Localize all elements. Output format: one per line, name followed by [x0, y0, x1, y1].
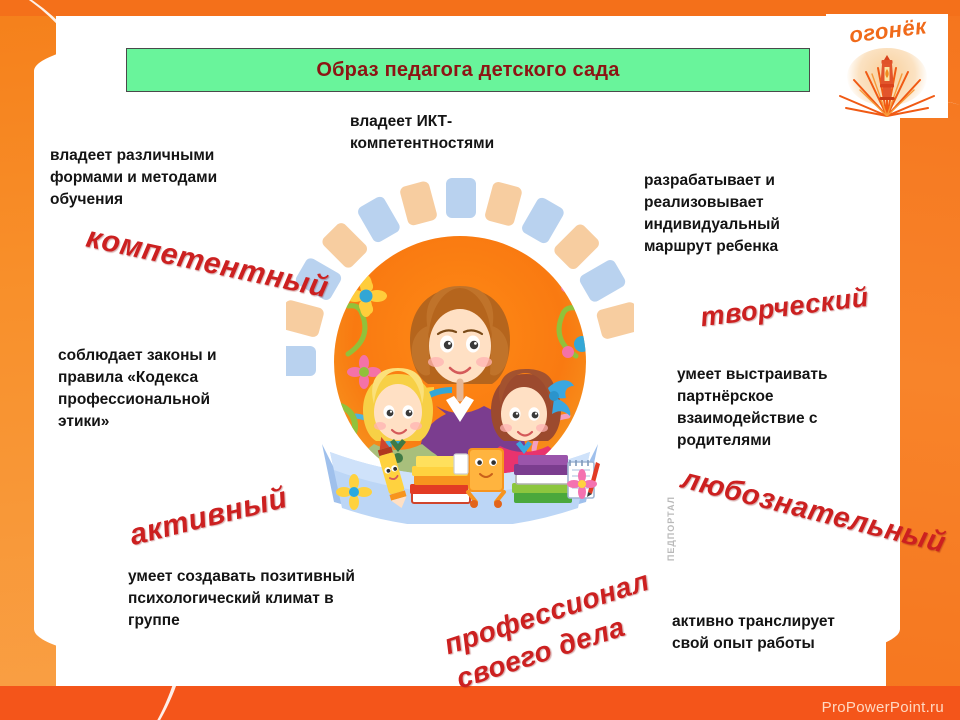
caption-forms-methods: владеет различными формами и методами об…	[50, 145, 310, 211]
caption-line: обучения	[50, 189, 310, 211]
background-top-strip	[0, 0, 960, 16]
books-stack-right	[512, 455, 572, 503]
caption-line: соблюдает законы и	[58, 345, 308, 367]
caption-ikt: владеет ИКТ- компетентностями	[350, 111, 580, 155]
caption-ethics-code: соблюдает законы и правила «Кодекса проф…	[58, 345, 308, 433]
caption-line: владеет различными	[50, 145, 310, 167]
logo: огонёк	[826, 14, 948, 118]
caption-line: группе	[128, 610, 438, 632]
caption-individual-route: разрабатывает и реализовывает индивидуал…	[644, 170, 874, 258]
lantern-icon	[878, 54, 896, 100]
slide-canvas: Образ педагога детского сада	[0, 0, 960, 720]
caption-line: разрабатывает и	[644, 170, 874, 192]
caption-parents: умеет выстраивать партнёрское взаимодейс…	[677, 364, 907, 452]
caption-line: умеет выстраивать	[677, 364, 907, 386]
slide-title-bar: Образ педагога детского сада	[126, 48, 810, 92]
caption-line: взаимодействие с	[677, 408, 907, 430]
caption-line: психологический климат в	[128, 588, 438, 610]
vertical-watermark: ПЕДПОРТАЛ	[666, 496, 676, 561]
caption-line: свой опыт работы	[672, 633, 902, 655]
caption-line: этики»	[58, 411, 308, 433]
footer-watermark: ProPowerPoint.ru	[822, 699, 944, 716]
caption-line: формами и методами	[50, 167, 310, 189]
caption-line: компетентностями	[350, 133, 580, 155]
caption-climate: умеет создавать позитивный психологическ…	[128, 566, 438, 632]
caption-line: правила «Кодекса	[58, 367, 308, 389]
caption-line: партнёрское	[677, 386, 907, 408]
caption-line: умеет создавать позитивный	[128, 566, 438, 588]
caption-line: маршрут ребенка	[644, 236, 874, 258]
caption-line: родителями	[677, 430, 907, 452]
caption-line: реализовывает	[644, 192, 874, 214]
page-title: Образ педагога детского сада	[316, 59, 619, 82]
caption-line: профессиональной	[58, 389, 308, 411]
caption-line: активно транслирует	[672, 611, 902, 633]
caption-line: индивидуальный	[644, 214, 874, 236]
caption-experience: активно транслирует свой опыт работы	[672, 611, 902, 655]
logo-text: огонёк	[831, 14, 945, 51]
illustration-svg	[286, 176, 634, 524]
teacher-and-children-illustration	[286, 176, 634, 524]
caption-line: владеет ИКТ-	[350, 111, 580, 133]
